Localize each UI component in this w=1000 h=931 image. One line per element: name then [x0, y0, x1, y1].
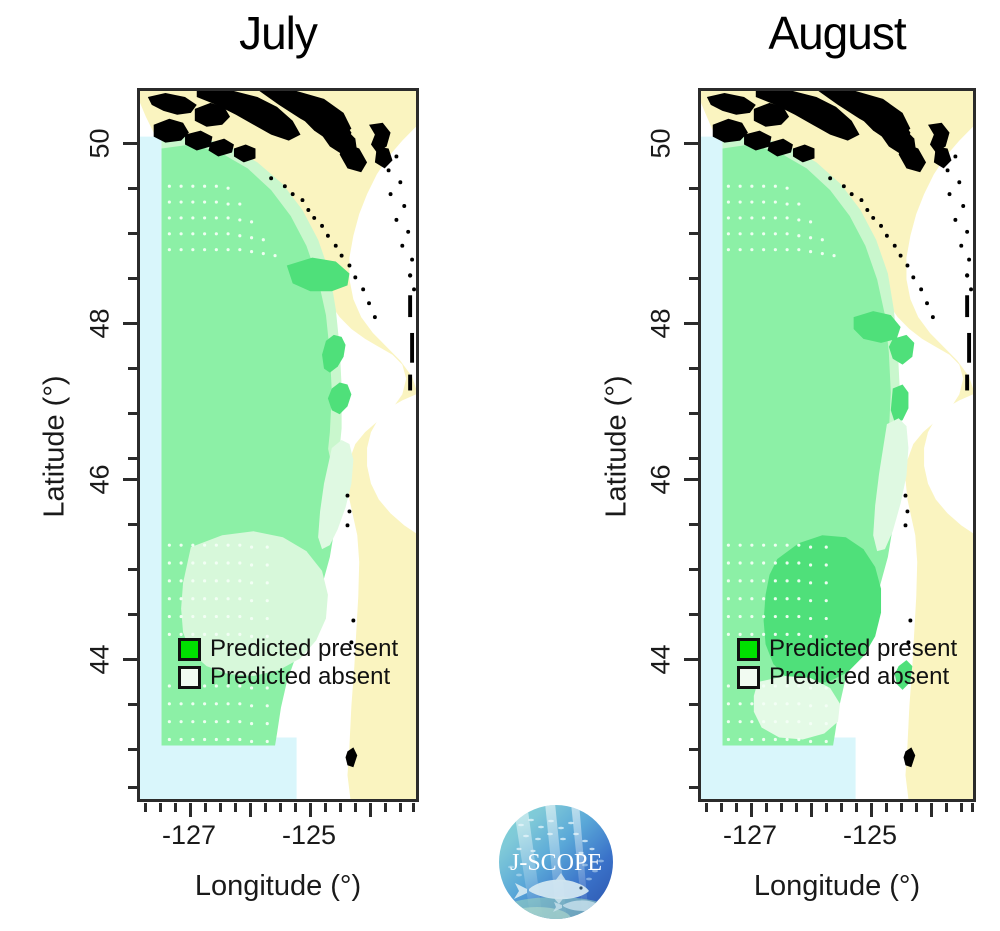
y-tick-label-46-august: 46 [646, 450, 677, 510]
jscope-logo-graphic: J-SCOPE [497, 803, 615, 921]
jscope-logo-text: J-SCOPE [510, 850, 602, 876]
legend-swatch-absent-icon [737, 666, 760, 689]
legend-label-absent: Predicted absent [210, 664, 390, 690]
x-axis-title-august: Longitude (°) [698, 870, 976, 903]
jscope-logo: J-SCOPE [497, 803, 615, 921]
legend-august: Predicted present Predicted absent [737, 636, 957, 692]
legend-label-present: Predicted present [210, 636, 398, 662]
legend-label-present: Predicted present [769, 636, 957, 662]
y-tick-label-50-august: 50 [646, 114, 677, 174]
legend-row-absent: Predicted absent [737, 664, 957, 690]
legend-swatch-absent-icon [178, 666, 201, 689]
x-axis-title-july: Longitude (°) [137, 870, 419, 903]
legend-swatch-present-icon [178, 638, 201, 661]
map-canvas-july [140, 91, 416, 799]
y-tick-label-50: 50 [85, 114, 116, 174]
outer-ocean-bottom-july [140, 738, 297, 799]
y-tick-label-46: 46 [85, 450, 116, 510]
y-axis-title-august: Latitude (°) [601, 317, 634, 577]
legend-july: Predicted present Predicted absent [178, 636, 398, 692]
map-panel-july: Predicted present Predicted absent [137, 88, 419, 802]
y-tick-label-48-august: 48 [646, 294, 677, 354]
outer-ocean-bottom-august [701, 738, 856, 799]
x-tick-label-127-july: -127 [159, 820, 219, 851]
legend-row-present: Predicted present [737, 636, 957, 662]
panel-title-july: July [137, 6, 419, 60]
legend-label-absent: Predicted absent [769, 664, 949, 690]
map-panel-august: Predicted present Predicted absent [698, 88, 976, 802]
x-tick-label-125-july: -125 [279, 820, 339, 851]
legend-swatch-present-icon [737, 638, 760, 661]
outer-ocean-strip-july [140, 137, 162, 799]
y-tick-label-48: 48 [85, 294, 116, 354]
legend-row-present: Predicted present [178, 636, 398, 662]
y-tick-label-44-august: 44 [646, 630, 677, 690]
legend-row-absent: Predicted absent [178, 664, 398, 690]
x-tick-label-125-august: -125 [840, 820, 900, 851]
panel-title-august: August [698, 6, 976, 60]
y-tick-label-44: 44 [85, 630, 116, 690]
map-canvas-august [701, 91, 973, 799]
x-tick-label-127-august: -127 [720, 820, 780, 851]
figure-root: July August [0, 0, 1000, 931]
outer-ocean-strip-august [701, 137, 723, 799]
y-axis-title-july: Latitude (°) [39, 317, 72, 577]
